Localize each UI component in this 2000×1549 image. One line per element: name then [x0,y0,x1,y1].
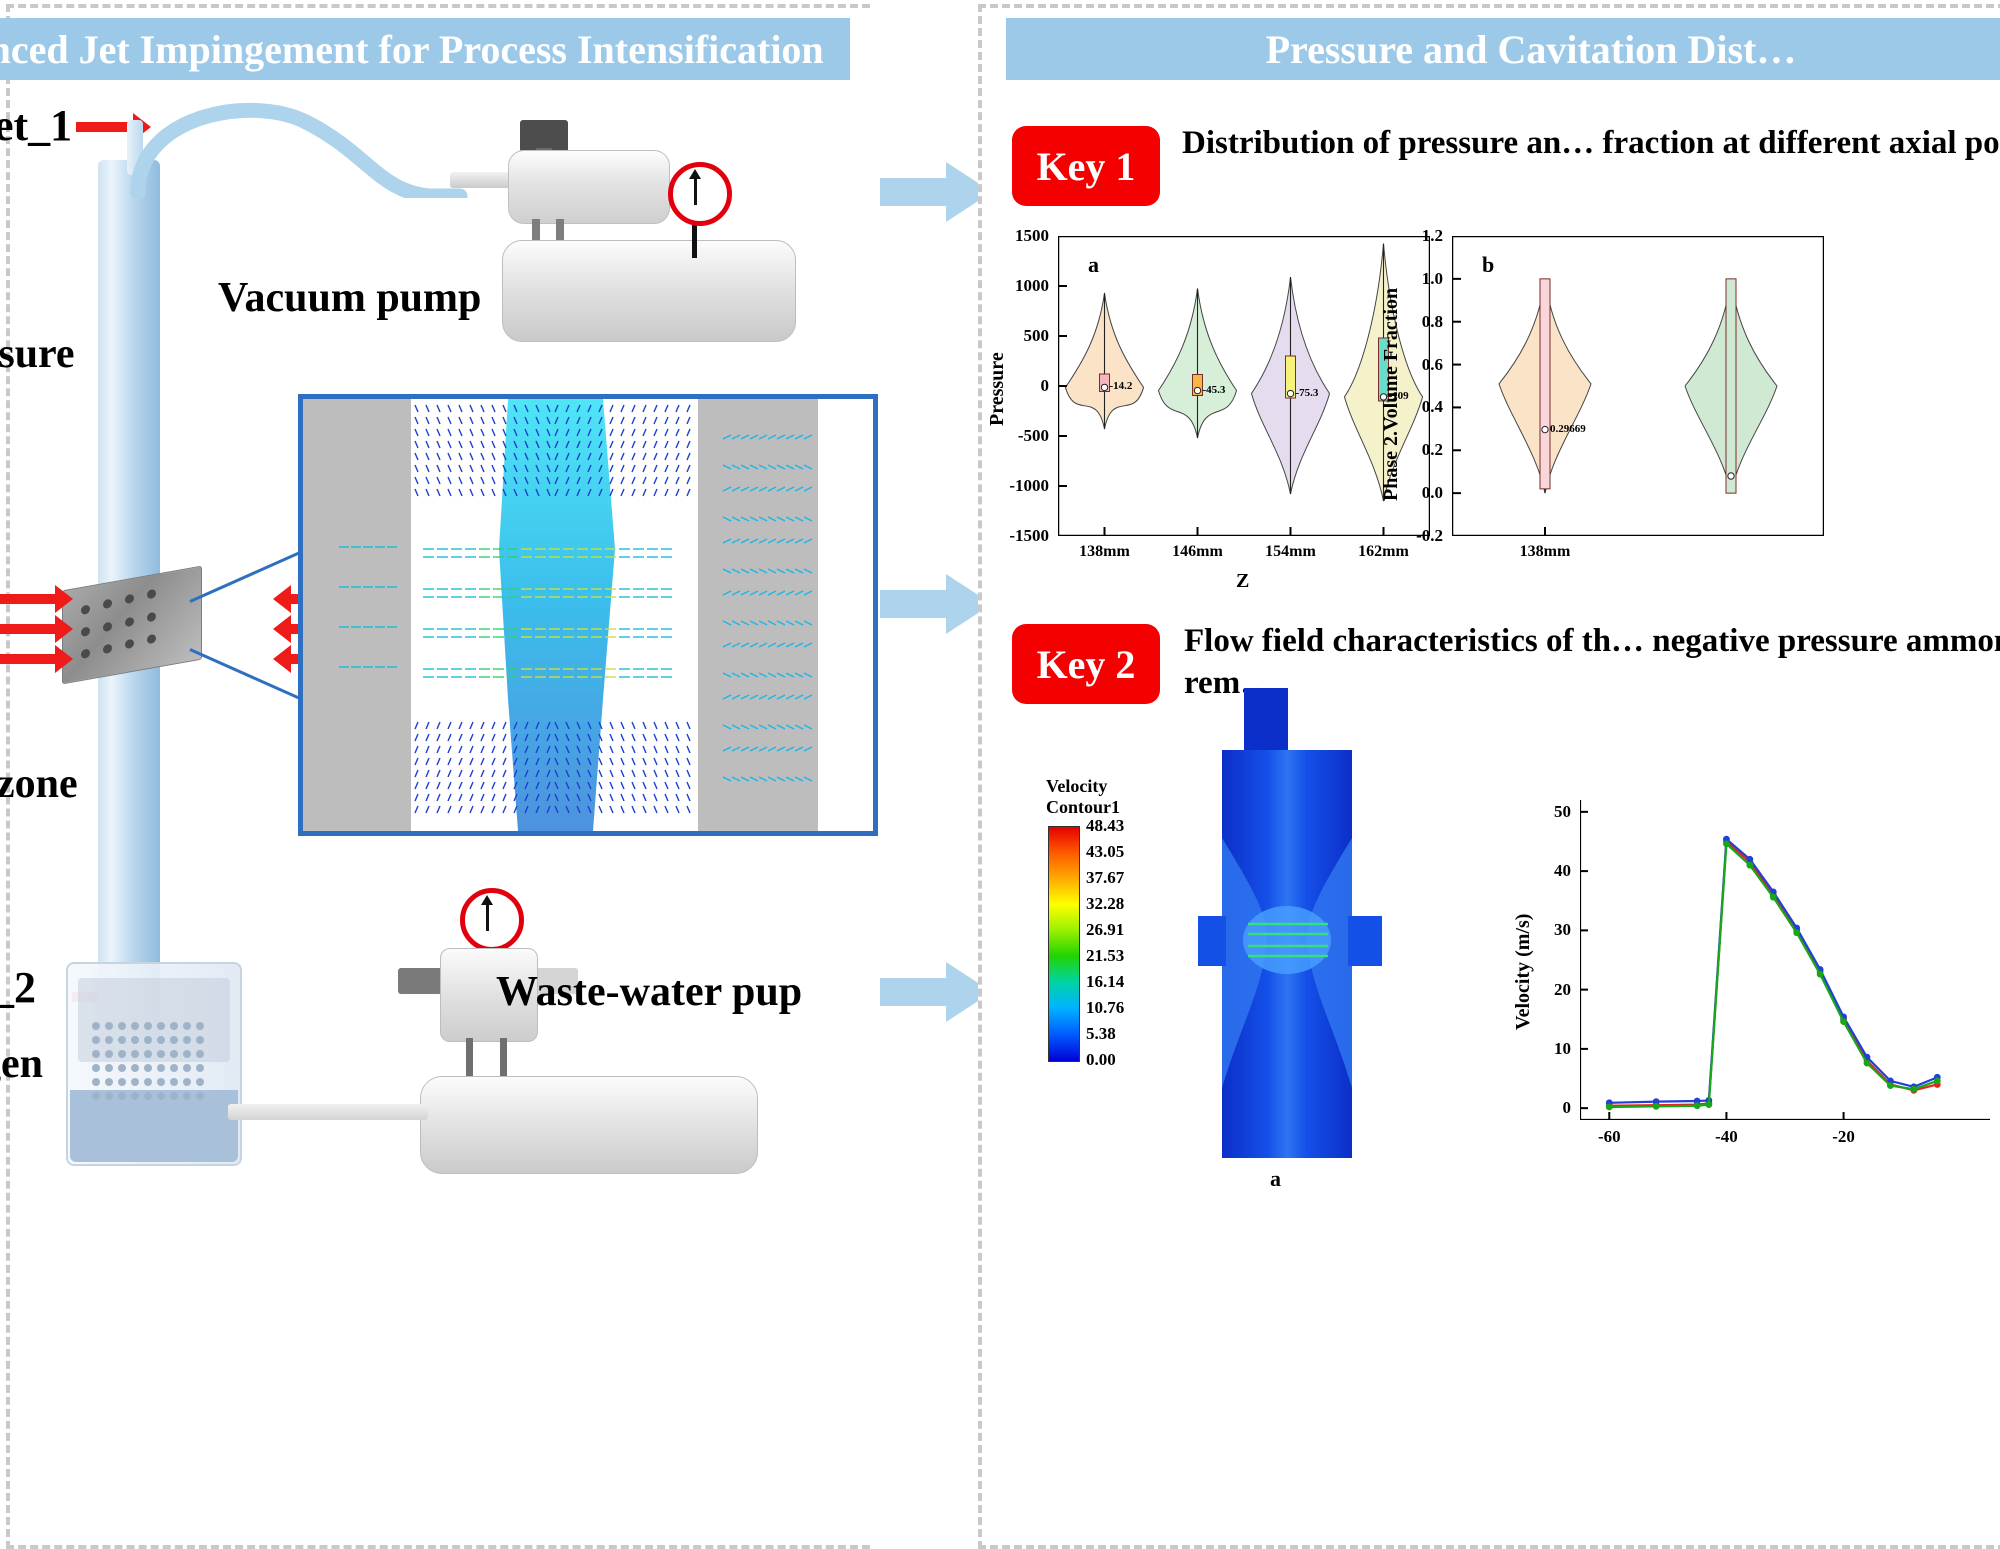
flow-arrow-key1 [880,160,992,224]
y-axis-tick: -1500 [1009,526,1058,546]
label-inlet-2: …_2 [0,962,36,1013]
sparger-hole [92,1050,100,1058]
y-axis-tick: 50 [1554,802,1580,822]
cfd-vector-inset [298,394,878,836]
velocity-contour-image [1192,688,1392,1158]
sparger-hole [131,1050,139,1058]
line-marker [1934,1077,1941,1084]
violin-median-label: 0.29669 [1550,423,1586,435]
line-marker [1887,1082,1894,1089]
line-marker [1606,1104,1613,1111]
violin-median-label: -75.3 [1296,387,1319,399]
right-title-banner: Pressure and Cavitation Dist… [1006,18,2000,80]
sparger-hole [105,1064,113,1072]
panel-letter: a [1088,252,1099,278]
right-banner-text: Pressure and Cavitation Dist… [1266,26,1797,73]
label-vacuum-pump: Vacuum pump [218,274,481,322]
y-axis-title: Phase 2.Volume Fraction [1380,288,1403,501]
waste-pump-leg [500,1038,507,1076]
y-axis-tick: 1.2 [1422,226,1452,246]
sparger-hole [105,1036,113,1044]
x-axis-title: Z [1236,570,1249,593]
x-axis-tick: -60 [1598,1120,1621,1147]
sparger-hole [157,1064,165,1072]
sparger-hole [183,1036,191,1044]
y-axis-tick: -500 [1018,426,1058,446]
x-axis-tick: -20 [1832,1120,1855,1147]
vacuum-hose [130,88,500,198]
line-marker [1705,1101,1712,1108]
y-axis-tick: 1500 [1015,226,1058,246]
label-pressure: …ssure [0,330,75,378]
label-nitrogen: …gen [0,1040,43,1088]
sparger-hole [183,1092,191,1100]
velocity-legend-title-2: Contour1 [1046,797,1166,818]
sparger-hole [118,1050,126,1058]
y-axis-tick: 20 [1554,980,1580,1000]
y-axis-tick: 40 [1554,861,1580,881]
sparger-hole [92,1092,100,1100]
sparger-hole [118,1022,126,1030]
line-marker [1653,1103,1660,1110]
line-marker [1793,929,1800,936]
y-axis-title: Velocity (m/s) [1512,914,1535,1030]
line-marker [1694,1102,1701,1109]
sparger-hole [105,1092,113,1100]
sparger-hole [144,1050,152,1058]
contour-caption: a [1270,1166,1281,1192]
velocity-legend-value: 43.05 [1086,842,1124,862]
velocity-legend-title-1: Velocity [1046,776,1166,797]
line-marker [1770,894,1777,901]
label-zone: …zone [0,760,78,808]
pressure-gauge-icon [668,162,732,226]
y-axis-tick: 0.6 [1422,355,1452,375]
flow-arrow-middle [880,572,992,636]
violin-chart-volume-fraction: 0.296691.21.00.80.60.40.20.0-0.2138mmbPh… [1452,236,1824,536]
y-axis-tick: 1000 [1015,276,1058,296]
line-marker [1840,1018,1847,1025]
sparger-hole [118,1064,126,1072]
feed-arrow-left [0,594,56,604]
sparger-hole [118,1092,126,1100]
y-axis-tick: 0.4 [1422,397,1452,417]
sparger-hole [131,1078,139,1086]
sparger-hole [196,1092,204,1100]
velocity-profile-chart: 01020304050-60-40-20Velocity (m/s) [1580,800,1990,1120]
sparger-hole [92,1022,100,1030]
velocity-legend-value: 10.76 [1086,998,1124,1018]
sparger-hole [144,1022,152,1030]
x-axis-tick: 162mm [1358,536,1409,561]
sparger-hole [170,1022,178,1030]
left-title-banner: …hanced Jet Impingement for Process Inte… [0,18,850,80]
y-axis-tick: 0 [1041,376,1059,396]
x-axis-tick: 154mm [1265,536,1316,561]
sparger-hole [144,1064,152,1072]
sparger-hole [183,1050,191,1058]
line-marker [1817,971,1824,978]
label-waste-pump: Waste-water pup [496,968,802,1016]
waste-pump-leg [466,1038,473,1076]
sparger-hole [170,1050,178,1058]
key2-badge: Key 2 [1012,624,1160,704]
violin-plot-svg [1452,236,1824,536]
sparger-hole [105,1022,113,1030]
feed-arrow-left [0,654,56,664]
sparger-hole [131,1064,139,1072]
flow-arrow-key2 [880,960,992,1024]
key1-description: Distribution of pressure an… fraction at… [1182,122,2000,164]
violin-box [1540,279,1550,489]
key1-badge: Key 1 [1012,126,1160,206]
line-series [1609,844,1937,1107]
x-axis-tick: -40 [1715,1120,1738,1147]
sparger-hole [92,1064,100,1072]
line-marker [1746,862,1753,869]
sparger-hole [183,1078,191,1086]
line-marker [1864,1060,1871,1067]
sparger-hole [131,1022,139,1030]
sparger-hole [144,1092,152,1100]
y-axis-tick: 0.8 [1422,312,1452,332]
sparger-hole [170,1092,178,1100]
sparger-hole [170,1078,178,1086]
x-axis-tick: 138mm [1079,536,1130,561]
velocity-legend-value: 0.00 [1086,1050,1116,1070]
velocity-colorbar [1048,826,1080,1062]
y-axis-tick: -0.2 [1416,526,1452,546]
line-marker [1723,840,1730,847]
waste-pump-base [420,1076,758,1174]
violin-box [1726,279,1736,493]
vacuum-pump-head [508,150,670,224]
velocity-legend: Velocity Contour1 [1046,776,1166,817]
y-axis-tick: 500 [1024,326,1059,346]
sparger-hole [196,1050,204,1058]
panel-letter: b [1482,252,1494,278]
label-inlet-1: …et_1 [0,100,72,151]
sparger-hole [157,1022,165,1030]
line-marker [1910,1086,1917,1093]
waste-pressure-gauge-icon [460,888,524,952]
feed-arrow-left [0,624,56,634]
sparger-hole [170,1064,178,1072]
inlet-1-arrow [76,122,134,132]
violin-median-label: -45.3 [1203,384,1226,396]
y-axis-tick: 10 [1554,1039,1580,1059]
sparger-hole [131,1092,139,1100]
sparger-hole [196,1078,204,1086]
sparger-hole [144,1036,152,1044]
bottom-connecting-pipe [228,1104,428,1120]
left-banner-text: …hanced Jet Impingement for Process Inte… [0,26,824,73]
sparger-hole [131,1036,139,1044]
sparger-hole [118,1036,126,1044]
x-axis-tick: 138mm [1520,536,1571,561]
velocity-legend-value: 21.53 [1086,946,1124,966]
y-axis-tick: -1000 [1009,476,1058,496]
violin-chart-pressure: -14.2-45.3-75.3-109150010005000-500-1000… [1058,236,1430,536]
sparger-plate [92,1022,212,1106]
sparger-hole [183,1064,191,1072]
y-axis-tick: 0.0 [1422,483,1452,503]
vacuum-pump-nozzle [450,172,512,188]
violin-median-label: -14.2 [1110,380,1133,392]
sparger-hole [196,1022,204,1030]
sparger-hole [157,1050,165,1058]
velocity-legend-value: 16.14 [1086,972,1124,992]
sparger-hole [170,1036,178,1044]
sparger-hole [105,1050,113,1058]
x-axis-tick: 146mm [1172,536,1223,561]
velocity-legend-value: 37.67 [1086,868,1124,888]
sparger-hole [92,1036,100,1044]
waste-pump-inlet [398,968,442,994]
sparger-hole [196,1036,204,1044]
velocity-legend-value: 48.43 [1086,816,1124,836]
line-series [1609,839,1937,1103]
y-axis-tick: 0 [1563,1098,1581,1118]
sparger-hole [157,1078,165,1086]
sparger-hole [92,1078,100,1086]
sparger-hole [157,1092,165,1100]
velocity-legend-value: 26.91 [1086,920,1124,940]
y-axis-tick: 1.0 [1422,269,1452,289]
line-plot-svg [1580,800,1990,1120]
velocity-legend-value: 5.38 [1086,1024,1116,1044]
sparger-hole [105,1078,113,1086]
sparger-hole [118,1078,126,1086]
sparger-hole [196,1064,204,1072]
y-axis-title: Pressure [986,352,1009,426]
velocity-legend-value: 32.28 [1086,894,1124,914]
sparger-hole [144,1078,152,1086]
line-series [1609,841,1937,1105]
sparger-hole [157,1036,165,1044]
sparger-hole [183,1022,191,1030]
y-axis-tick: 0.2 [1422,440,1452,460]
vacuum-pump-base [502,240,796,342]
y-axis-tick: 30 [1554,920,1580,940]
